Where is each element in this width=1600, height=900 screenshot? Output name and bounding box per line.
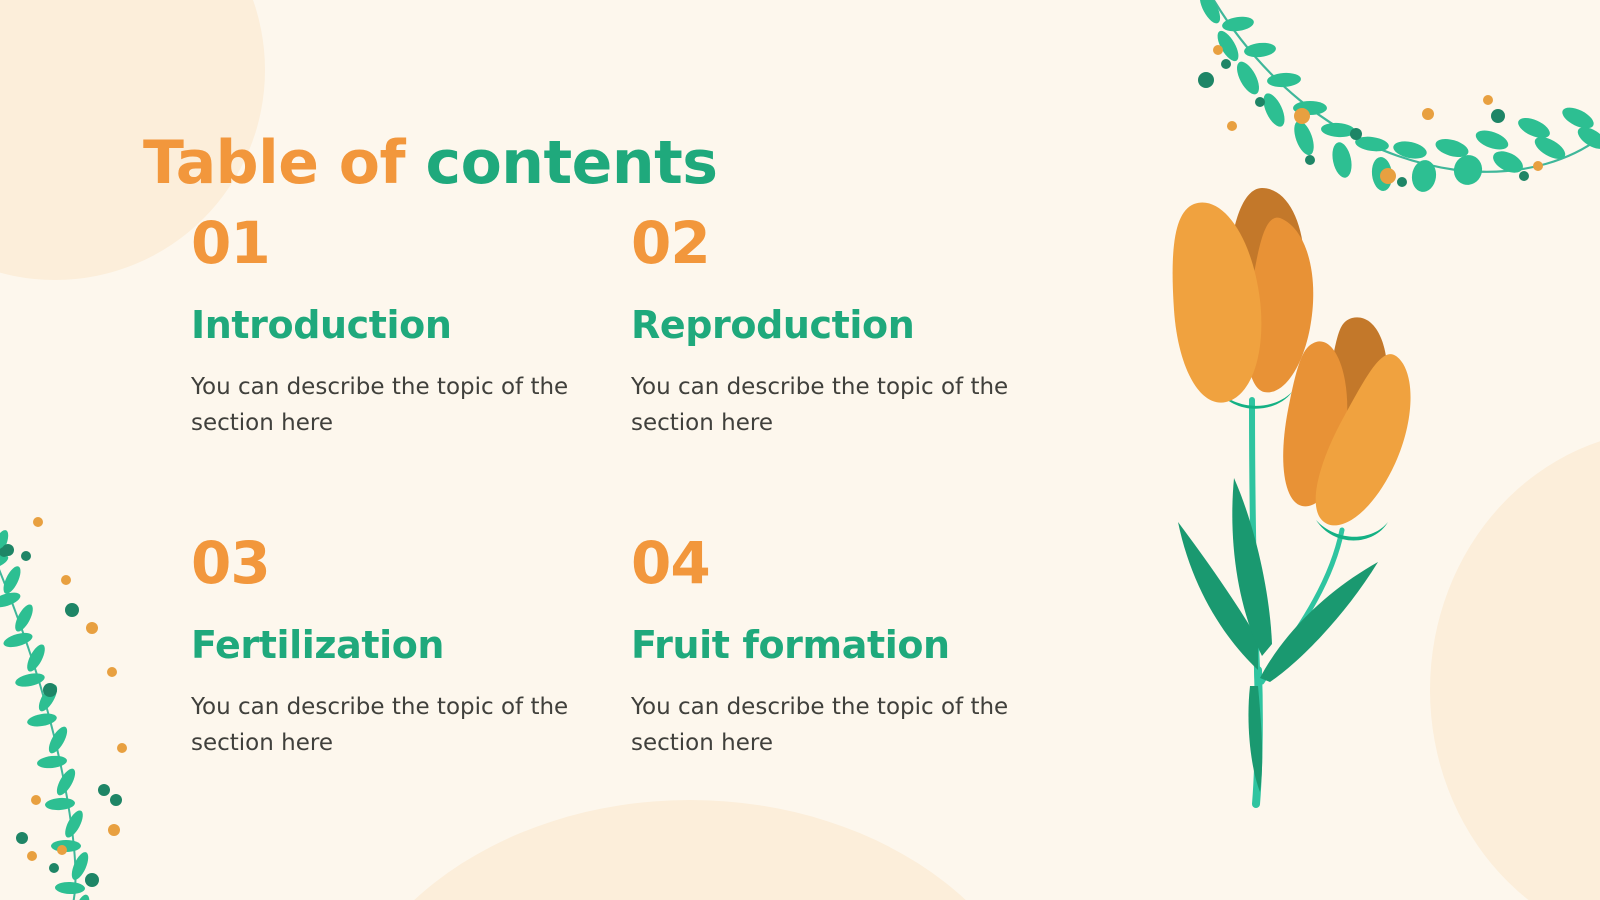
- page-title-part-two: contents: [426, 128, 718, 198]
- tulip-illustration-icon: [1130, 170, 1470, 824]
- toc-item-04[interactable]: 04 Fruit formation You can describe the …: [631, 534, 1071, 854]
- page-title-part-one: Table of: [143, 128, 426, 198]
- toc-description-03: You can describe the topic of the sectio…: [191, 690, 586, 761]
- table-of-contents-grid: 01 Introduction You can describe the top…: [191, 214, 1071, 854]
- vine-bottom-left-icon: [0, 500, 194, 900]
- toc-heading-01: Introduction: [191, 306, 631, 344]
- toc-heading-04: Fruit formation: [631, 626, 1071, 664]
- toc-number-01: 01: [191, 214, 631, 272]
- toc-number-03: 03: [191, 534, 631, 592]
- toc-heading-02: Reproduction: [631, 306, 1071, 344]
- toc-number-02: 02: [631, 214, 1071, 272]
- toc-description-02: You can describe the topic of the sectio…: [631, 370, 1026, 441]
- toc-description-04: You can describe the topic of the sectio…: [631, 690, 1026, 761]
- toc-description-01: You can describe the topic of the sectio…: [191, 370, 586, 441]
- toc-number-04: 04: [631, 534, 1071, 592]
- toc-item-01[interactable]: 01 Introduction You can describe the top…: [191, 214, 631, 534]
- toc-item-03[interactable]: 03 Fertilization You can describe the to…: [191, 534, 631, 854]
- toc-item-02[interactable]: 02 Reproduction You can describe the top…: [631, 214, 1071, 534]
- toc-heading-03: Fertilization: [191, 626, 631, 664]
- slide-table-of-contents: Table of contents 01 Introduction You ca…: [0, 0, 1600, 900]
- page-title: Table of contents: [143, 132, 718, 195]
